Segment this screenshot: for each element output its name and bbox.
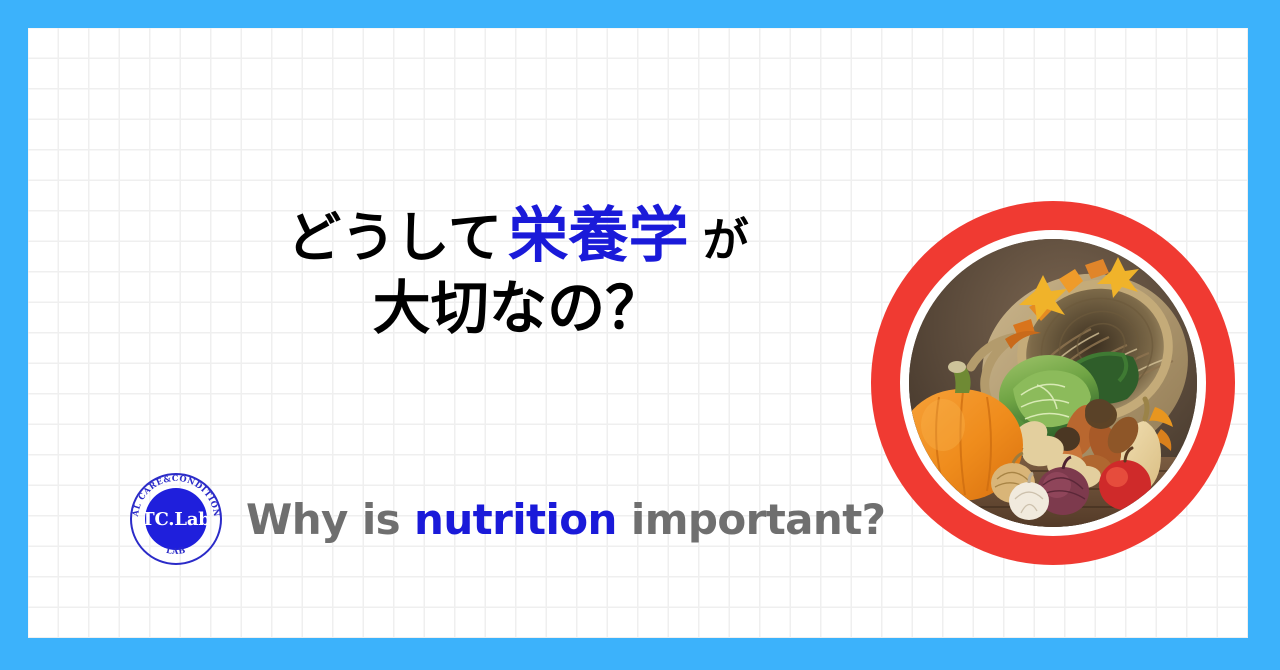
subtitle-prefix: Why is (246, 495, 414, 544)
subtitle: Why is nutrition important? (246, 495, 885, 544)
grid-paper-background: どうして栄養学が 大切なの？ TOTAL CARE&CONDITIONING (28, 28, 1248, 638)
slide-canvas: どうして栄養学が 大切なの？ TOTAL CARE&CONDITIONING (0, 0, 1280, 670)
page-title: どうして栄養学が 大切なの？ (178, 206, 858, 338)
headline-accent-term: 栄養学 (502, 201, 694, 271)
cornucopia-photo (909, 239, 1197, 527)
subtitle-accent-term: nutrition (414, 495, 617, 544)
subtitle-row: TOTAL CARE&CONDITIONING LAB TC.Lab Why i… (128, 471, 885, 567)
logo-center-text: TC.Lab (128, 471, 224, 567)
photo-red-ring (871, 201, 1235, 565)
headline-particle: が (695, 213, 749, 267)
headline-line-1: どうして栄養学が (178, 206, 858, 267)
headline-prefix: どうして (287, 206, 502, 269)
subtitle-suffix: important? (617, 495, 886, 544)
headline-line-2: 大切なの？ (178, 279, 858, 338)
tc-lab-logo-icon: TOTAL CARE&CONDITIONING LAB TC.Lab (128, 471, 224, 567)
cornucopia-illustration (909, 239, 1197, 527)
